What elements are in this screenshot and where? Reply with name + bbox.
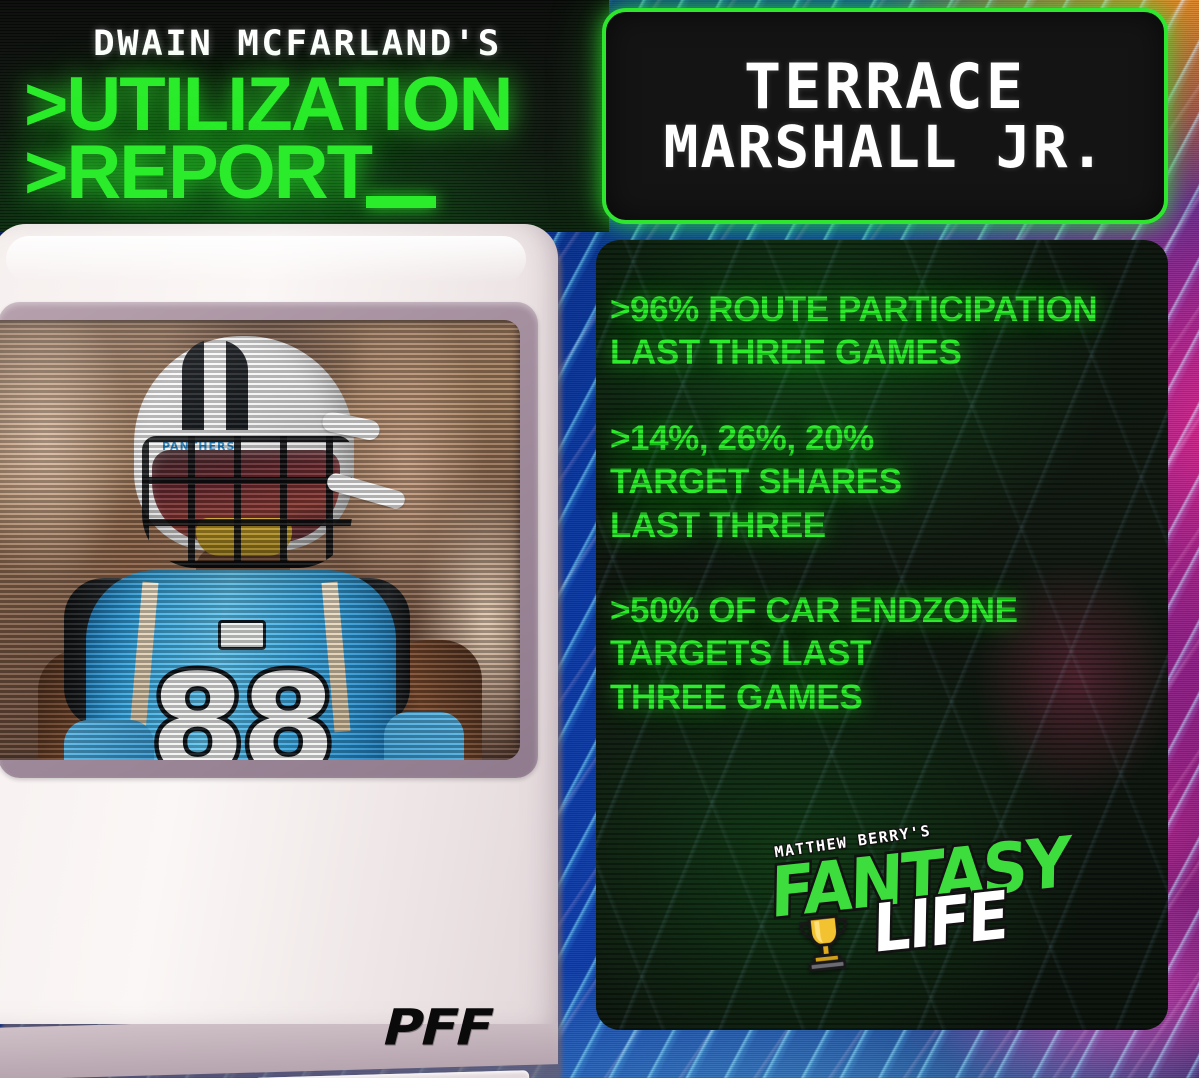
macintosh-illustration: 88 PANTHERS PFF bbox=[0, 224, 570, 1078]
stat-block: >50% OF CAR ENDZONE TARGETS LAST THREE G… bbox=[610, 589, 1158, 719]
player-first-name: TERRACE bbox=[744, 56, 1026, 118]
stats-list: >96% ROUTE PARTICIPATION LAST THREE GAME… bbox=[596, 240, 1168, 719]
mac-screen-bezel: 88 PANTHERS bbox=[0, 302, 538, 778]
player-jersey-number: 88 bbox=[136, 650, 346, 760]
stat-line: LAST THREE bbox=[610, 504, 1158, 547]
helmet-facemask bbox=[142, 436, 352, 568]
trophy-icon bbox=[791, 907, 860, 986]
stat-line: THREE GAMES bbox=[610, 676, 1158, 719]
report-header-panel: DWAIN MCFARLAND'S >UTILIZATION >REPORT bbox=[0, 0, 609, 232]
player-photo: 88 PANTHERS bbox=[0, 320, 520, 760]
mac-body-highlight bbox=[6, 236, 526, 282]
stat-line: >96% ROUTE PARTICIPATION bbox=[610, 288, 1158, 331]
stat-line: TARGET SHARES bbox=[610, 460, 1158, 503]
fantasy-life-word-life: LIFE bbox=[872, 877, 1007, 969]
report-title-line-1: >UTILIZATION bbox=[24, 72, 512, 137]
author-kicker: DWAIN MCFARLAND'S bbox=[0, 24, 601, 64]
terminal-cursor bbox=[366, 196, 436, 208]
player-right-glove bbox=[384, 712, 464, 760]
stat-line: LAST THREE GAMES bbox=[610, 331, 1158, 374]
mac-screen: 88 PANTHERS bbox=[0, 320, 520, 760]
stat-block: >96% ROUTE PARTICIPATION LAST THREE GAME… bbox=[610, 288, 1158, 375]
stat-line: >50% OF CAR ENDZONE bbox=[610, 589, 1158, 632]
report-title-line-2: >REPORT bbox=[24, 140, 371, 205]
player-left-glove bbox=[64, 720, 154, 760]
player-last-name: MARSHALL JR. bbox=[663, 118, 1106, 176]
pff-logo: PFF bbox=[377, 999, 499, 1057]
helmet-center-stripe bbox=[182, 340, 248, 430]
player-name-banner: TERRACE MARSHALL JR. bbox=[602, 8, 1168, 224]
stat-line: TARGETS LAST bbox=[610, 632, 1158, 675]
fantasy-life-logo: MATTHEW BERRY'S FANTASY LIFE bbox=[759, 815, 999, 986]
stat-block: >14%, 26%, 20% TARGET SHARES LAST THREE bbox=[610, 417, 1158, 547]
stat-line: >14%, 26%, 20% bbox=[610, 417, 1158, 460]
poster-canvas: DWAIN MCFARLAND'S >UTILIZATION >REPORT bbox=[0, 0, 1199, 1078]
mac-body-shell: 88 PANTHERS PFF bbox=[0, 224, 558, 1024]
